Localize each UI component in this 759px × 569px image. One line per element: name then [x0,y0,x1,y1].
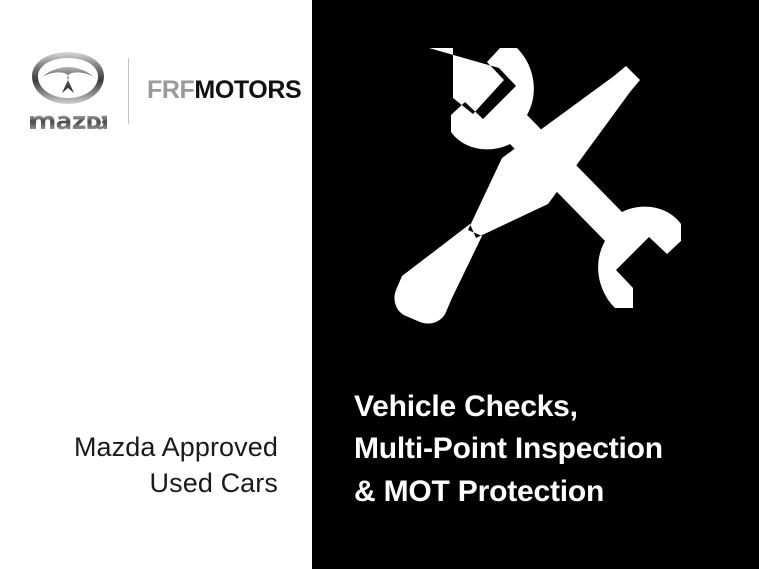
left-caption: Mazda Approved Used Cars [20,430,278,502]
frf-text: FRF [147,76,194,104]
headline-line-1: Vehicle Checks, [354,386,745,428]
brand-lockup: FRFMOTORS [22,50,301,131]
slide-canvas: Vehicle Checks, Multi-Point Inspection &… [0,0,759,569]
brand-divider [128,58,129,124]
headline-line-3: & MOT Protection [354,471,745,513]
motors-text: MOTORS [194,76,301,104]
mazda-wordmark [29,111,107,131]
frf-motors-name: FRFMOTORS [147,78,301,103]
left-caption-line-1: Mazda Approved [20,430,278,466]
left-caption-line-2: Used Cars [20,466,278,502]
right-black-panel: Vehicle Checks, Multi-Point Inspection &… [312,0,759,569]
wrench-and-screwdriver-icon [382,38,682,328]
mazda-logo-icon [22,50,114,131]
headline: Vehicle Checks, Multi-Point Inspection &… [354,386,745,513]
headline-line-2: Multi-Point Inspection [354,428,745,470]
